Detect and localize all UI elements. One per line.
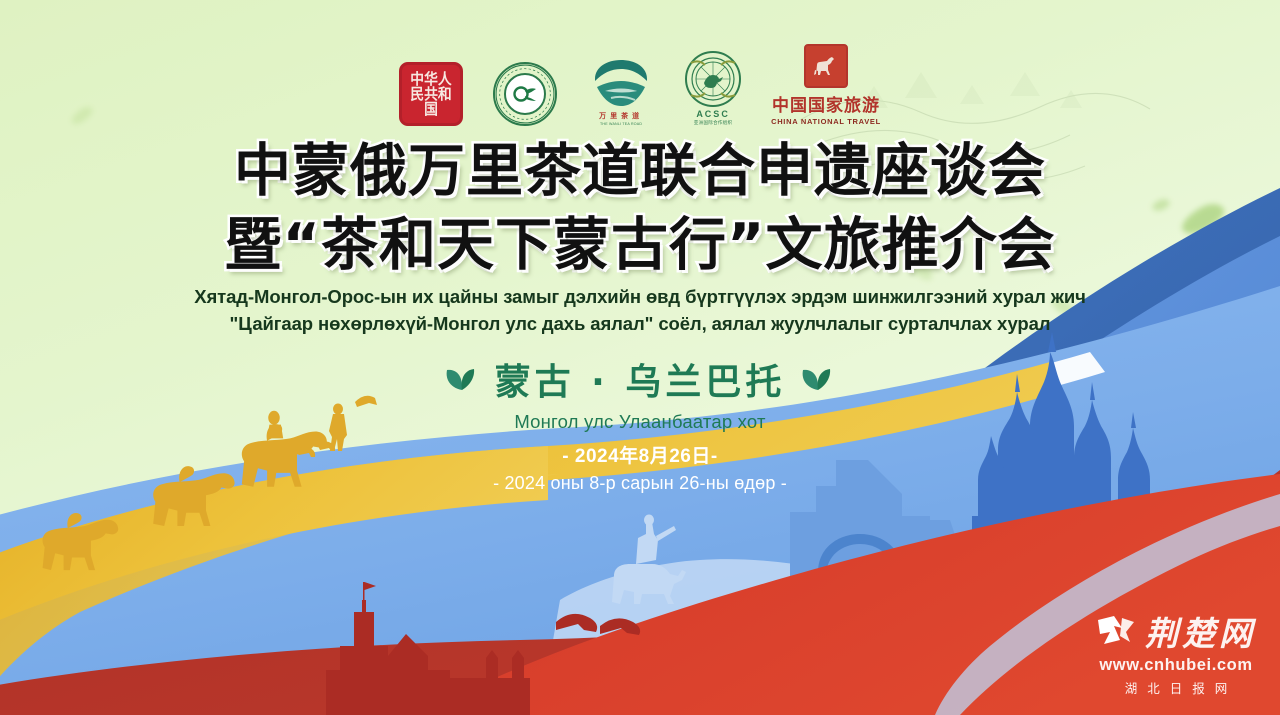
cnhubei-logo-icon: [1096, 614, 1138, 648]
location-mn: Монгол улс Улаанбаатар хот: [0, 411, 1280, 433]
acsc-emblem-icon: [685, 51, 741, 107]
china-national-travel-logo: 中国国家旅游 CHINA NATIONAL TRAVEL: [771, 44, 881, 126]
acsc-sub-label: 亚洲国际合作组织: [694, 120, 732, 126]
seal-icon: 中华人民共和国: [399, 62, 463, 126]
horse-seal-icon: [804, 44, 848, 88]
page-title: 中蒙俄万里茶道联合申遗座谈会 暨“茶和天下蒙古行”文旅推介会: [0, 140, 1280, 276]
cnt-cn-label: 中国国家旅游: [772, 91, 880, 116]
date-cn: - 2024年8月26日-: [0, 444, 1280, 470]
date-mn: - 2024 оны 8-р сарын 26-ны өдөр -: [0, 470, 1280, 496]
tea-leaf-icon: [445, 366, 479, 392]
prc-seal-logo: 中华人民共和国: [399, 62, 463, 126]
sponsor-logo-row: 中华人民共和国: [0, 44, 1280, 126]
badge-arc: [494, 63, 556, 125]
poster-canvas: 中华人民共和国: [0, 0, 1280, 715]
circular-badge-icon: [493, 62, 557, 126]
acsc-logo: ACSC 亚洲国际合作组织: [685, 51, 741, 126]
subtitle-line-2: "Цайгаар нөхөрлөхүй-Монгол улс дахь аяла…: [0, 310, 1280, 337]
watermark-subtitle: 湖北日报网: [1096, 678, 1256, 697]
subtitle-line-1: Хятад-Монгол-Орос-ын их цайны замыг дэлх…: [0, 283, 1280, 310]
subtitle: Хятад-Монгол-Орос-ын их цайны замыг дэлх…: [0, 283, 1280, 337]
tea-leaf-icon: [801, 366, 835, 392]
event-date-block: - 2024年8月26日- - 2024 оны 8-р сарын 26-ны…: [0, 444, 1280, 496]
location-block: 蒙古 · 乌兰巴托 Монгол улс Улаанбаатар хот: [0, 353, 1280, 433]
watermark-url: www.cnhubei.com: [1096, 656, 1256, 675]
title-line-2: 暨“茶和天下蒙古行”文旅推介会: [225, 212, 1056, 278]
title-line-1: 中蒙俄万里茶道联合申遗座谈会: [234, 138, 1046, 204]
tea-road-badge-logo: [493, 62, 557, 126]
tea-road-mark-icon: [587, 57, 655, 109]
wanli-tea-road-logo: 万里茶道 THE WANLI TEA ROAD: [587, 57, 655, 126]
location-cn: 蒙古 · 乌兰巴托: [495, 353, 786, 405]
tea-road-en-label: THE WANLI TEA ROAD: [600, 122, 642, 126]
tea-road-cn-label: 万里茶道: [599, 111, 643, 121]
cnt-en-label: CHINA NATIONAL TRAVEL: [771, 117, 881, 126]
acsc-label: ACSC: [696, 109, 730, 119]
site-watermark: 荆楚网 www.cnhubei.com 湖北日报网: [1096, 607, 1256, 697]
watermark-brand: 荆楚网: [1145, 607, 1256, 655]
prc-seal-text: 中华人民共和国: [404, 72, 457, 117]
